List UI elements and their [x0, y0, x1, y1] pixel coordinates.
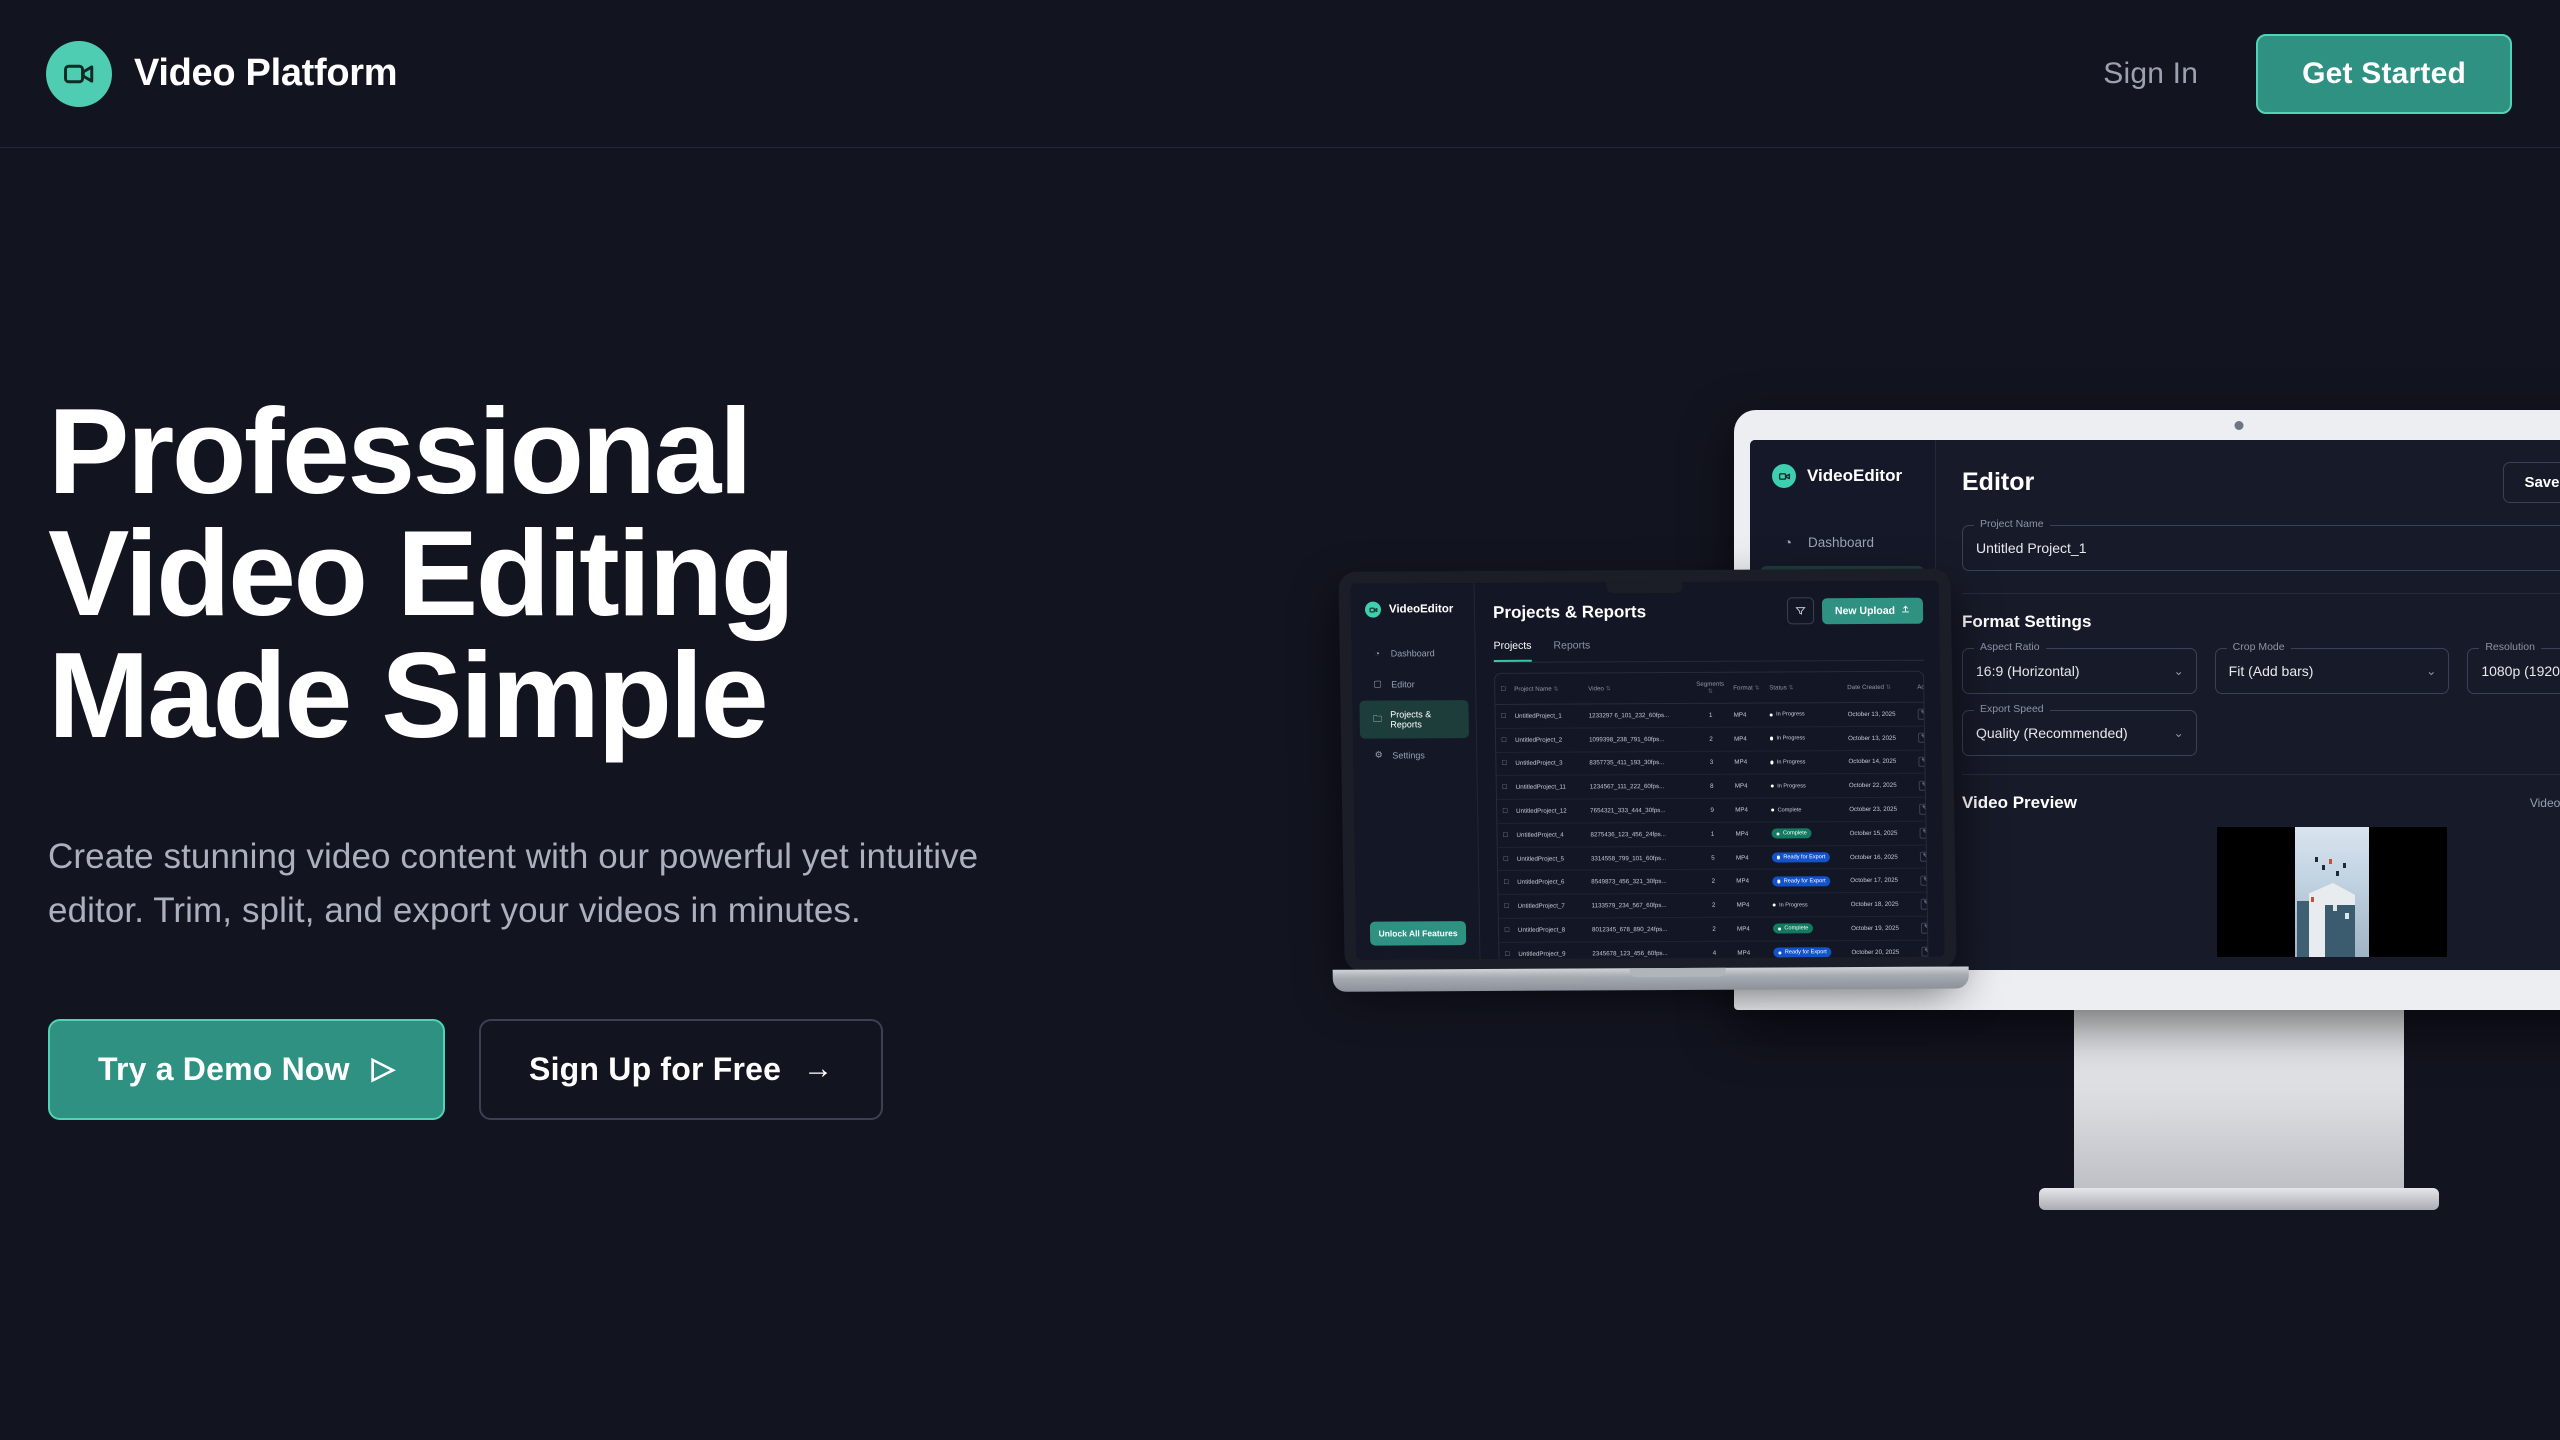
status-badge: In Progress [1773, 900, 1813, 910]
project-name-label: Project Name [1974, 518, 2050, 530]
table-row[interactable]: ☐UntitledProject_127654321_333_444_30fps… [1497, 797, 1931, 823]
hero-title-line-1: Professional [48, 390, 1108, 512]
edit-icon[interactable]: ✎ [1918, 733, 1930, 743]
row-checkbox[interactable]: ☐ [1499, 918, 1515, 942]
cell-segments: 2 [1693, 893, 1733, 917]
cell-video: 1133579_234_567_60fps... [1588, 894, 1693, 918]
video-camera-icon [46, 41, 112, 107]
cell-video: 3314558_799_101_60fps... [1588, 846, 1693, 870]
col-segments[interactable]: Segments ⇅ [1690, 673, 1730, 704]
status-dot-icon [1770, 737, 1773, 740]
status-label: Ready for Export [1785, 949, 1827, 955]
cell-status: In Progress [1767, 750, 1845, 774]
laptop-sidebar-item-dashboard[interactable]: ◔ Dashboard [1358, 639, 1467, 668]
status-badge: In Progress [1770, 757, 1810, 767]
sidebar-label-dashboard: Dashboard [1808, 535, 1874, 550]
cell-actions: ✎⤓🗑 [1916, 821, 1930, 845]
try-demo-button[interactable]: Try a Demo Now ▷ [48, 1019, 445, 1120]
tab-reports[interactable]: Reports [1553, 639, 1590, 661]
cell-date-created: October 13, 2025 [1844, 702, 1914, 726]
try-demo-label: Try a Demo Now [98, 1051, 350, 1088]
table-row[interactable]: ☐UntitledProject_92345678_123_456_60fps.… [1499, 940, 1931, 960]
cell-actions: ✎⤓🗑 [1915, 726, 1931, 750]
laptop-sidebar-label-editor: Editor [1391, 679, 1415, 689]
status-badge: Ready for Export [1772, 876, 1831, 886]
top-navbar: Video Platform Sign In Get Started [0, 0, 2560, 148]
cell-segments: 2 [1693, 870, 1733, 894]
cell-format: MP4 [1731, 751, 1767, 775]
laptop-sidebar-item-editor[interactable]: ▢ Editor [1359, 669, 1468, 699]
edit-icon[interactable]: ✎ [1921, 923, 1931, 933]
projects-brand: VideoEditor [1351, 601, 1474, 618]
new-upload-button[interactable]: New Upload [1822, 597, 1924, 624]
cell-date-created: October 19, 2025 [1848, 916, 1918, 940]
row-checkbox[interactable]: ☐ [1498, 871, 1514, 895]
cell-project-name: UntitledProject_9 [1515, 942, 1589, 960]
cell-actions: ✎⤓🗑 [1915, 750, 1931, 774]
cell-segments: 2 [1694, 917, 1734, 941]
unlock-all-features-button[interactable]: Unlock All Features [1370, 921, 1466, 945]
device-mockup-scene: VideoEditor ◔ Dashboard ▢ Editor 🗀 Proje… [1330, 380, 2560, 1220]
projects-brand-name: VideoEditor [1389, 603, 1454, 615]
edit-icon[interactable]: ✎ [1920, 852, 1931, 862]
cell-video: 8012345_678_890_24fps... [1589, 917, 1694, 941]
save-button[interactable]: Save [2503, 462, 2560, 503]
editor-page-title: Editor [1962, 468, 2034, 497]
status-label: In Progress [1776, 735, 1805, 741]
tab-projects[interactable]: Projects [1493, 640, 1531, 662]
project-name-field[interactable]: Project Name Untitled Project_1 [1962, 525, 2560, 571]
cell-format: MP4 [1733, 893, 1769, 917]
sign-up-free-button[interactable]: Sign Up for Free → [479, 1019, 883, 1120]
video-preview-header: Video Preview Video player size [1962, 793, 2560, 813]
cell-status: Complete [1768, 798, 1846, 822]
status-badge: Complete [1773, 924, 1814, 934]
row-checkbox[interactable]: ☐ [1498, 847, 1514, 871]
cell-actions: ✎⤓🗑 [1916, 797, 1931, 821]
projects-page-title: Projects & Reports [1493, 602, 1646, 623]
cell-status: Ready for Export [1769, 869, 1847, 893]
row-checkbox[interactable]: ☐ [1497, 823, 1513, 847]
cell-project-name: UntitledProject_1 [1511, 704, 1585, 728]
cell-date-created: October 17, 2025 [1847, 869, 1917, 893]
cell-format: MP4 [1733, 869, 1769, 893]
cell-status: In Progress [1767, 726, 1845, 750]
laptop-sidebar-label-dashboard: Dashboard [1391, 648, 1435, 658]
sort-icon: ⇅ [1708, 689, 1713, 695]
status-badge: Ready for Export [1773, 947, 1832, 957]
cell-project-name: UntitledProject_2 [1512, 728, 1586, 752]
cell-segments: 9 [1692, 798, 1732, 822]
editor-header: Editor Save Export [1962, 462, 2560, 503]
cell-status: Complete [1768, 822, 1846, 846]
edit-icon[interactable]: ✎ [1918, 756, 1930, 766]
cell-video: 8275436_123_456_24fps... [1587, 822, 1692, 846]
video-camera-icon: ▢ [1372, 679, 1383, 690]
sort-icon: ⇅ [1755, 685, 1760, 691]
cell-project-name: UntitledProject_11 [1513, 775, 1587, 799]
cell-format: MP4 [1733, 846, 1769, 870]
edit-icon[interactable]: ✎ [1921, 899, 1931, 909]
folder-icon: 🗀 [1373, 712, 1383, 728]
monitor-base [2039, 1188, 2439, 1210]
status-badge: In Progress [1771, 781, 1811, 791]
new-upload-label: New Upload [1835, 604, 1895, 616]
status-label: Complete [1783, 831, 1807, 837]
table-row[interactable]: ☐UntitledProject_21099398_238_791_60fps.… [1496, 726, 1931, 752]
edit-icon[interactable]: ✎ [1919, 804, 1931, 814]
upload-icon [1901, 604, 1910, 616]
hero-subtitle-line-2: editor. Trim, split, and export your vid… [48, 884, 1108, 938]
cell-date-created: October 22, 2025 [1846, 774, 1916, 798]
edit-icon[interactable]: ✎ [1919, 780, 1931, 790]
arrow-right-icon: → [803, 1054, 833, 1084]
cell-actions: ✎⤓🗑 [1916, 773, 1931, 797]
cell-status: In Progress [1766, 703, 1844, 727]
cell-date-created: October 18, 2025 [1847, 892, 1917, 916]
status-label: Complete [1778, 807, 1802, 813]
cell-segments: 1 [1692, 822, 1732, 846]
cell-status: Ready for Export [1769, 845, 1847, 869]
cell-project-name: UntitledProject_7 [1514, 894, 1588, 918]
format-settings-grid: Aspect Ratio 16:9 (Horizontal) ⌄ Crop Mo… [1962, 648, 2560, 756]
crop-mode-value: Fit (Add bars) [2229, 663, 2314, 679]
cell-actions: ✎⤓🗑 [1917, 868, 1931, 892]
table-row[interactable]: ☐UntitledProject_53314558_799_101_60fps.… [1498, 845, 1931, 871]
status-label: In Progress [1777, 783, 1806, 789]
row-checkbox[interactable]: ☐ [1496, 728, 1512, 752]
cell-date-created: October 16, 2025 [1847, 845, 1917, 869]
chevron-down-icon: ⌄ [2426, 664, 2436, 678]
gauge-icon: ◔ [1372, 649, 1383, 659]
status-badge: Ready for Export [1772, 852, 1831, 862]
webcam-icon [2235, 421, 2244, 430]
editor-brand-name: VideoEditor [1807, 466, 1902, 486]
col-format[interactable]: Format ⇅ [1730, 673, 1766, 704]
project-name-value: Untitled Project_1 [1976, 540, 2087, 556]
resolution-value: 1080p (1920x1080) [2481, 663, 2560, 679]
cell-project-name: UntitledProject_4 [1513, 823, 1587, 847]
cell-date-created: October 15, 2025 [1846, 821, 1916, 845]
brand-logo-group[interactable]: Video Platform [46, 41, 397, 107]
status-dot-icon [1773, 903, 1776, 906]
sort-icon: ⇅ [1886, 684, 1891, 690]
cell-format: MP4 [1731, 727, 1767, 751]
cell-video: 8357735_411_193_30fps... [1586, 751, 1691, 775]
cell-project-name: UntitledProject_8 [1515, 918, 1589, 942]
filter-icon[interactable] [1787, 597, 1814, 624]
col-project-name[interactable]: Project Name ⇅ [1511, 673, 1585, 704]
sign-in-link[interactable]: Sign In [2103, 57, 2198, 91]
cell-video: 7654321_333_444_30fps... [1587, 799, 1692, 823]
laptop-screen: VideoEditor ◔ Dashboard ▢ Editor 🗀 Proje… [1351, 581, 1945, 960]
table-row[interactable]: ☐UntitledProject_88012345_678_890_24fps.… [1499, 916, 1931, 942]
sort-icon: ⇅ [1606, 686, 1611, 692]
select-all-checkbox[interactable]: ☐ [1495, 674, 1511, 705]
table-body: ☐UntitledProject_11233297 6_101_232_60fp… [1495, 702, 1930, 960]
cell-project-name: UntitledProject_6 [1514, 870, 1588, 894]
resolution-label: Resolution [2479, 641, 2541, 653]
cell-actions: ✎⤓🗑 [1918, 940, 1931, 960]
hero-section: Professional Video Editing Made Simple C… [48, 390, 1108, 1120]
crop-mode-label: Crop Mode [2227, 641, 2291, 653]
laptop-mockup: VideoEditor ◔ Dashboard ▢ Editor 🗀 Proje… [1326, 568, 2023, 1032]
status-badge: In Progress [1770, 733, 1810, 743]
hero-title-line-3: Made Simple [48, 634, 1108, 756]
hero-subtitle-line-1: Create stunning video content with our p… [48, 830, 1108, 884]
page-title: Professional Video Editing Made Simple [48, 390, 1108, 756]
cell-segments: 8 [1692, 775, 1732, 799]
cell-segments: 1 [1690, 703, 1730, 727]
row-checkbox[interactable]: ☐ [1498, 895, 1514, 919]
cell-video: 8549873_456_321_30fps... [1588, 870, 1693, 894]
video-frame-thumbnail [2295, 827, 2369, 957]
projects-header: Projects & Reports New Upload [1493, 597, 1923, 626]
cell-status: Complete [1770, 917, 1848, 941]
cell-segments: 2 [1691, 727, 1731, 751]
col-date-created[interactable]: Date Created ⇅ [1844, 672, 1914, 703]
laptop-sidebar-label-projects: Projects & Reports [1390, 709, 1456, 729]
cell-video: 1233297 6_101_232_60fps... [1585, 703, 1690, 727]
cell-format: MP4 [1734, 941, 1770, 960]
cell-actions: ✎⤓🗑 [1914, 702, 1930, 726]
cell-segments: 3 [1691, 751, 1731, 775]
get-started-button[interactable]: Get Started [2256, 34, 2512, 114]
video-player[interactable] [2217, 827, 2447, 957]
col-status[interactable]: Status ⇅ [1766, 672, 1844, 703]
cell-format: MP4 [1732, 774, 1768, 798]
cell-date-created: October 23, 2025 [1846, 797, 1916, 821]
status-label: In Progress [1776, 712, 1805, 718]
cell-date-created: October 14, 2025 [1845, 750, 1915, 774]
video-camera-icon [1772, 464, 1796, 488]
projects-table: ☐ Project Name ⇅ Video ⇅ Segments ⇅ Form… [1495, 672, 1931, 960]
cell-actions: ✎⤓🗑 [1917, 845, 1931, 869]
status-label: In Progress [1779, 902, 1808, 908]
divider-2 [1962, 774, 2560, 775]
cell-format: MP4 [1732, 822, 1768, 846]
status-label: Ready for Export [1783, 854, 1825, 860]
laptop-notch [1607, 582, 1683, 593]
nav-actions: Sign In Get Started [2103, 34, 2512, 114]
resolution-select[interactable]: Resolution 1080p (1920x1080) ⌄ [2467, 648, 2560, 694]
hero-actions: Try a Demo Now ▷ Sign Up for Free → [48, 1019, 1108, 1120]
row-checkbox[interactable]: ☐ [1495, 704, 1511, 728]
status-badge: Complete [1771, 829, 1812, 839]
cell-date-created: October 20, 2025 [1848, 940, 1918, 960]
laptop-sidebar-item-settings[interactable]: ⚙ Settings [1360, 740, 1469, 770]
cell-project-name: UntitledProject_5 [1514, 847, 1588, 871]
cell-segments: 4 [1694, 941, 1734, 960]
sign-up-label: Sign Up for Free [529, 1051, 781, 1088]
edit-icon[interactable]: ✎ [1920, 875, 1931, 885]
cell-actions: ✎⤓🗑 [1918, 916, 1931, 940]
table-row[interactable]: ☐UntitledProject_48275436_123_456_24fps.… [1497, 821, 1931, 847]
projects-table-wrapper: ☐ Project Name ⇅ Video ⇅ Segments ⇅ Form… [1494, 671, 1931, 960]
cell-video: 1234567_111_222_60fps... [1587, 775, 1692, 799]
status-badge: In Progress [1770, 710, 1810, 720]
format-settings-title: Format Settings [1962, 612, 2560, 632]
hero-subtitle: Create stunning video content with our p… [48, 830, 1108, 939]
table-row[interactable]: ☐UntitledProject_68549873_456_321_30fps.… [1498, 868, 1931, 894]
laptop-lid: VideoEditor ◔ Dashboard ▢ Editor 🗀 Proje… [1338, 569, 1956, 972]
gear-icon: ⚙ [1373, 750, 1384, 761]
edit-icon[interactable]: ✎ [1918, 709, 1930, 719]
col-video[interactable]: Video ⇅ [1585, 673, 1690, 704]
cell-format: MP4 [1730, 703, 1766, 727]
cell-status: Ready for Export [1770, 940, 1848, 959]
projects-main: Projects & Reports New Upload [1475, 581, 1945, 959]
cell-format: MP4 [1732, 798, 1768, 822]
cell-video: 1099398_238_791_60fps... [1586, 727, 1691, 751]
status-dot-icon [1770, 761, 1773, 764]
status-dot-icon [1777, 856, 1780, 859]
player-size-control[interactable]: Video player size [2530, 796, 2560, 810]
cell-actions: ✎⤓🗑 [1917, 892, 1930, 916]
row-checkbox[interactable]: ☐ [1497, 776, 1513, 800]
row-checkbox[interactable]: ☐ [1496, 752, 1512, 776]
projects-header-actions: New Upload [1787, 597, 1924, 625]
editor-main: Editor Save Export [1936, 440, 2560, 970]
sidebar-item-dashboard[interactable]: ◔ Dashboard [1760, 522, 1925, 563]
table-row[interactable]: ☐UntitledProject_11233297 6_101_232_60fp… [1495, 702, 1930, 728]
status-badge: Complete [1771, 805, 1807, 815]
table-row[interactable]: ☐UntitledProject_38357735_411_193_30fps.… [1496, 750, 1931, 776]
status-dot-icon [1770, 713, 1773, 716]
edit-icon[interactable]: ✎ [1921, 947, 1931, 957]
status-dot-icon [1778, 951, 1781, 954]
editor-brand: VideoEditor [1750, 464, 1935, 488]
laptop-sidebar-item-projects-reports[interactable]: 🗀 Projects & Reports [1359, 700, 1469, 739]
status-dot-icon [1771, 808, 1774, 811]
edit-icon[interactable]: ✎ [1919, 828, 1930, 838]
video-camera-icon [1365, 602, 1381, 618]
cell-project-name: UntitledProject_12 [1513, 799, 1587, 823]
cell-project-name: UntitledProject_3 [1512, 752, 1586, 776]
play-icon: ▷ [372, 1054, 395, 1084]
chevron-down-icon: ⌄ [2174, 726, 2184, 740]
divider [1962, 593, 2560, 594]
cell-format: MP4 [1734, 917, 1770, 941]
sort-icon: ⇅ [1788, 685, 1793, 691]
table-header: ☐ Project Name ⇅ Video ⇅ Segments ⇅ Form… [1495, 672, 1931, 705]
status-label: In Progress [1777, 759, 1806, 765]
status-dot-icon [1771, 785, 1774, 788]
editor-header-actions: Save Export [2503, 462, 2560, 503]
status-dot-icon [1778, 927, 1781, 930]
row-checkbox[interactable]: ☐ [1499, 942, 1515, 960]
save-label: Save [2524, 474, 2559, 491]
monitor-stand [2074, 1010, 2404, 1200]
row-checkbox[interactable]: ☐ [1497, 799, 1513, 823]
col-actions: Actions [1914, 672, 1931, 703]
cell-video: 2345678_123_456_60fps... [1589, 941, 1694, 959]
table-row[interactable]: ☐UntitledProject_71133579_234_567_60fps.… [1498, 892, 1930, 918]
laptop-base-notch [1630, 968, 1726, 978]
crop-mode-select[interactable]: Crop Mode Fit (Add bars) ⌄ [2215, 648, 2450, 694]
cell-date-created: October 13, 2025 [1845, 726, 1915, 750]
status-label: Complete [1784, 926, 1808, 932]
cell-status: In Progress [1769, 893, 1847, 917]
gauge-icon: ◔ [1780, 535, 1796, 550]
status-label: Ready for Export [1784, 878, 1826, 884]
status-dot-icon [1777, 832, 1780, 835]
brand-name: Video Platform [134, 52, 397, 95]
sort-icon: ⇅ [1553, 686, 1558, 692]
hero-title-line-2: Video Editing [48, 512, 1108, 634]
cell-segments: 5 [1693, 846, 1733, 870]
projects-tabs: Projects Reports [1493, 638, 1923, 663]
projects-sidebar: VideoEditor ◔ Dashboard ▢ Editor 🗀 Proje… [1351, 583, 1481, 960]
laptop-sidebar-label-settings: Settings [1392, 750, 1425, 760]
chevron-down-icon: ⌄ [2174, 664, 2184, 678]
player-size-label: Video player size [2530, 796, 2560, 810]
cell-status: In Progress [1768, 774, 1846, 798]
status-dot-icon [1777, 880, 1780, 883]
table-row[interactable]: ☐UntitledProject_111234567_111_222_60fps… [1497, 773, 1931, 799]
